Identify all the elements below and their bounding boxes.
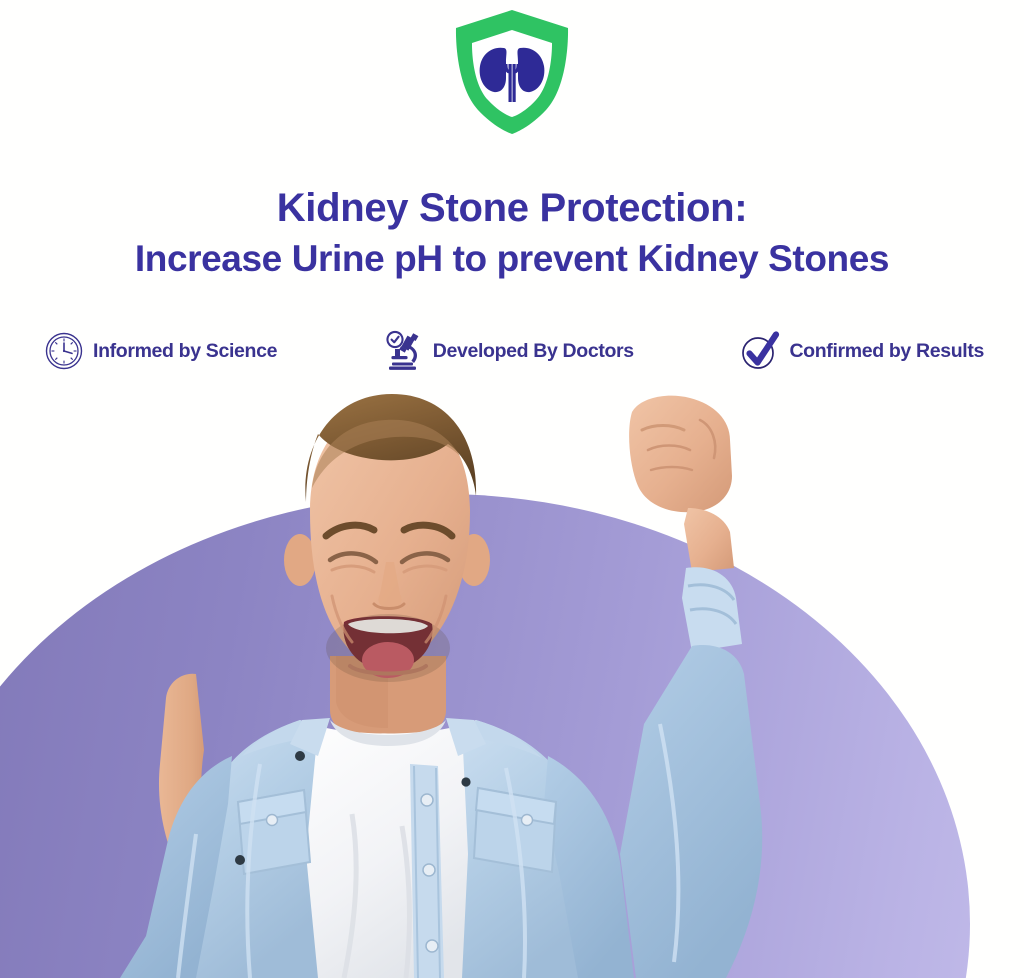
- celebrating-man-photo: [0, 384, 1024, 978]
- logo-header: [0, 6, 1024, 146]
- trust-badge-label: Confirmed by Results: [789, 340, 984, 363]
- hero-section: [0, 384, 1024, 978]
- trust-badge-label: Informed by Science: [93, 340, 277, 363]
- trust-badge-confirmed-by-results: Confirmed by Results: [740, 330, 984, 372]
- landing-page: Kidney Stone Protection: Increase Urine …: [0, 0, 1024, 978]
- trust-badge-developed-by-doctors: Developed By Doctors: [384, 330, 634, 372]
- clock-icon: [44, 330, 84, 372]
- trust-badge-row: Informed by Science: [44, 330, 984, 372]
- page-title: Kidney Stone Protection: Increase Urine …: [0, 186, 1024, 280]
- circle-check-icon: [740, 330, 780, 372]
- microscope-check-icon: [384, 330, 424, 372]
- trust-badge-informed-by-science: Informed by Science: [44, 330, 277, 372]
- trust-badge-label: Developed By Doctors: [433, 340, 634, 363]
- page-title-line-1: Kidney Stone Protection:: [0, 186, 1024, 232]
- head: [305, 394, 476, 682]
- page-title-line-2: Increase Urine pH to prevent Kidney Ston…: [0, 238, 1024, 280]
- kidney-shield-logo[interactable]: [448, 6, 576, 143]
